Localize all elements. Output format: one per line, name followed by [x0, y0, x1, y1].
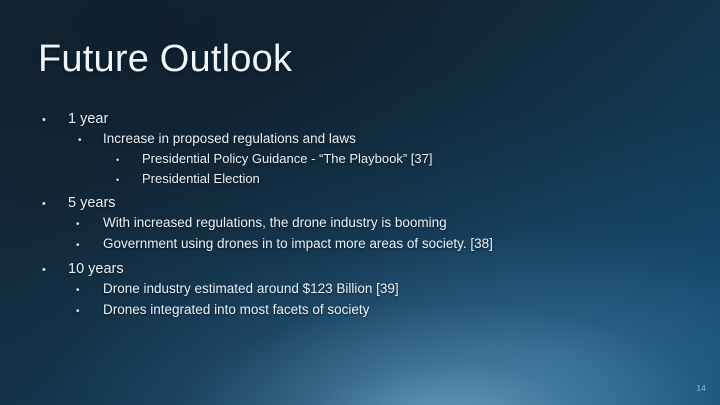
bullet-icon: • — [42, 199, 68, 210]
slide-body-content: • 1 year • Increase in proposed regulati… — [0, 112, 720, 324]
list-item-label: 10 years — [68, 262, 720, 277]
slide-canvas: Future Outlook • 1 year • Increase in pr… — [0, 0, 720, 405]
bullet-icon: • — [42, 265, 68, 276]
list-item: • 1 year — [0, 112, 720, 132]
list-item: • Presidential Election — [0, 172, 720, 192]
list-item-label: Drone industry estimated around $123 Bil… — [103, 282, 720, 296]
bullet-icon: • — [78, 136, 103, 146]
list-item: • Drones integrated into most facets of … — [0, 303, 720, 324]
list-item-label: Drones integrated into most facets of so… — [103, 303, 720, 317]
list-item: • 10 years — [0, 262, 720, 282]
bullet-icon: • — [42, 115, 68, 126]
bullet-icon: • — [76, 286, 103, 296]
list-item-label: Presidential Policy Guidance - “The Play… — [142, 152, 720, 165]
list-item: • Drone industry estimated around $123 B… — [0, 282, 720, 303]
list-item-label: Government using drones in to impact mor… — [103, 237, 720, 251]
list-item: • Government using drones in to impact m… — [0, 237, 720, 258]
list-item: • 5 years — [0, 196, 720, 216]
list-item-label: 1 year — [68, 112, 720, 127]
bullet-icon: • — [76, 241, 103, 251]
list-item-label: Presidential Election — [142, 172, 720, 185]
bullet-icon: • — [76, 307, 103, 317]
page-title: Future Outlook — [38, 38, 292, 81]
bullet-icon: • — [116, 176, 142, 185]
bullet-icon: • — [76, 220, 103, 230]
list-item: • With increased regulations, the drone … — [0, 216, 720, 237]
list-item-label: 5 years — [68, 196, 720, 211]
list-item-label: Increase in proposed regulations and law… — [103, 132, 720, 146]
page-number: 14 — [697, 384, 707, 393]
list-item: • Presidential Policy Guidance - “The Pl… — [0, 152, 720, 172]
bullet-icon: • — [116, 156, 142, 165]
list-item-label: With increased regulations, the drone in… — [103, 216, 720, 230]
list-item: • Increase in proposed regulations and l… — [0, 132, 720, 152]
